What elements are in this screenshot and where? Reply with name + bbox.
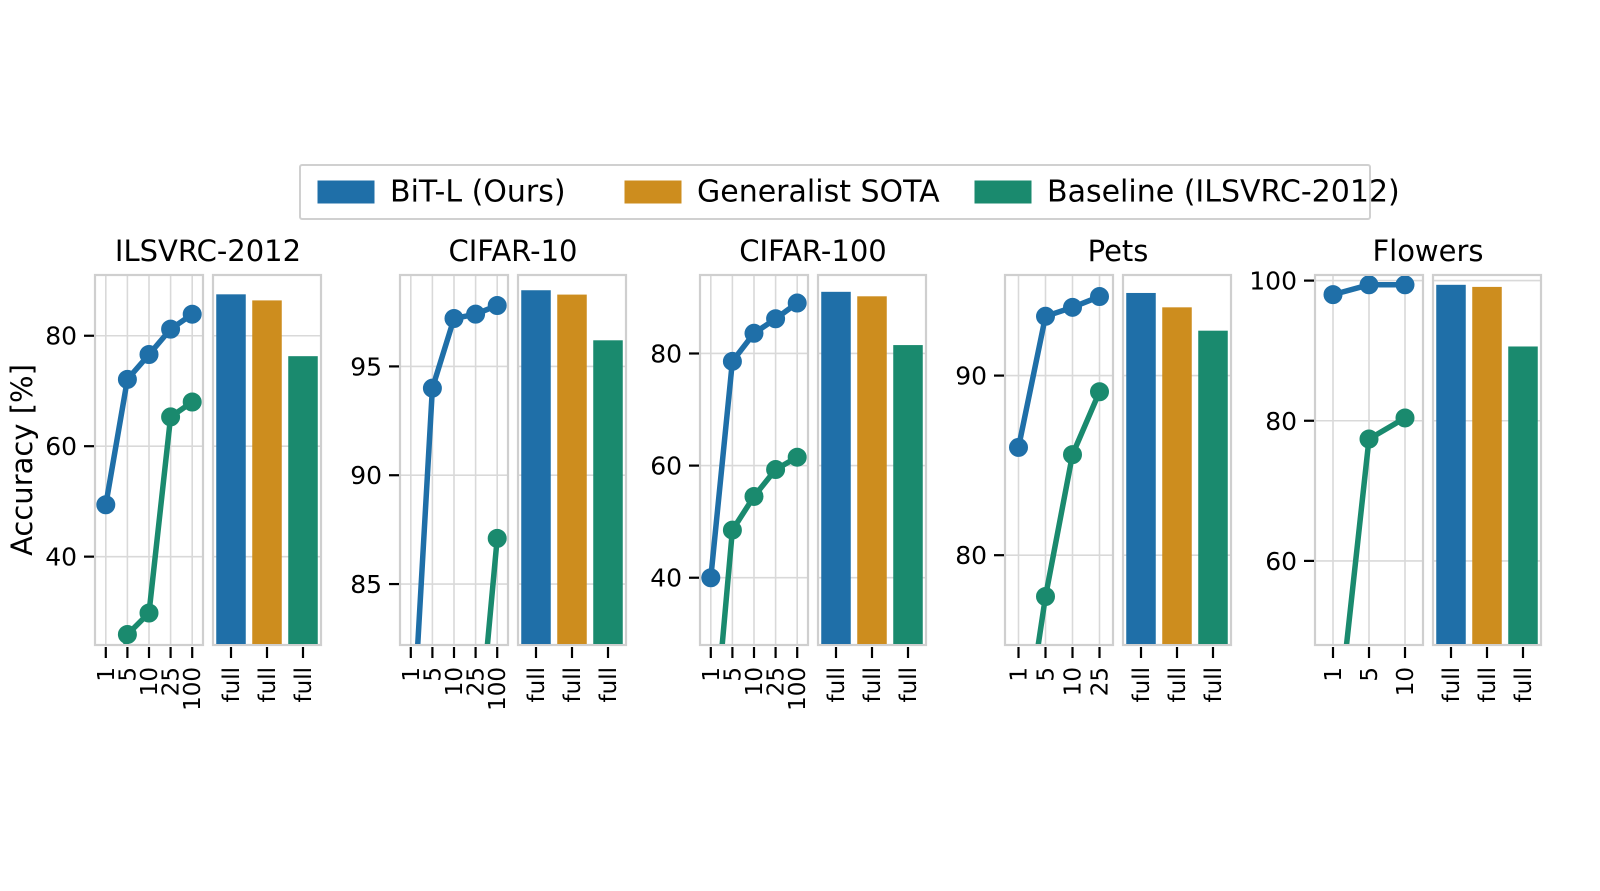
datapoint-bit_l-5 [1360,276,1378,294]
y-tick-label-0: 40 [45,543,77,572]
x-tick-label-full-6: full [860,667,886,702]
datapoint-bit_l-10 [1064,298,1082,316]
x-tick-label-full-5: full [1511,667,1537,702]
bar-bit_l [821,292,851,644]
x-tick-label-shot-0: 1 [1321,667,1347,682]
y-axis-label-group: Accuracy [%] [5,364,39,556]
datapoint-baseline_ilsvrc-100 [488,529,506,547]
datapoint-bit_l-10 [1396,276,1414,294]
datapoint-baseline_ilsvrc-100 [183,393,201,411]
x-tick-label-shot-2: 10 [1393,667,1419,696]
datapoint-bit_l-1 [702,569,720,587]
x-tick-label-full-7: full [896,667,922,702]
bar-baseline_ilsvrc [1508,346,1538,644]
datapoint-bit_l-5 [1037,307,1055,325]
multi-panel-accuracy-chart: BiT-L (Ours)Generalist SOTABaseline (ILS… [0,0,1600,891]
datapoint-baseline_ilsvrc-25 [162,408,180,426]
datapoint-baseline_ilsvrc-10 [140,604,158,622]
x-tick-label-shot-1: 5 [1034,667,1060,682]
y-tick-label-0: 40 [650,564,682,593]
datapoint-bit_l-10 [745,324,763,342]
legend-label-baseline_ilsvrc: Baseline (ILSVRC-2012) [1047,175,1400,210]
datapoint-bit_l-10 [140,346,158,364]
legend-swatch-baseline_ilsvrc [975,181,1031,203]
x-tick-label-shot-4: 100 [785,667,811,711]
x-tick-label-full-5: full [1165,667,1191,702]
y-tick-label-2: 80 [45,322,77,351]
y-axis-label: Accuracy [%] [5,364,39,556]
y-tick-label-2: 95 [350,352,382,381]
y-tick-label-1: 90 [350,461,382,490]
x-tick-label-shot-1: 5 [1357,667,1383,682]
chart-legend: BiT-L (Ours)Generalist SOTABaseline (ILS… [300,165,1400,219]
x-tick-label-full-5: full [219,667,245,702]
x-tick-label-full-7: full [596,667,622,702]
x-tick-label-full-6: full [255,667,281,702]
y-tick-label-1: 90 [955,362,987,391]
x-tick-label-full-3: full [1439,667,1465,702]
y-tick-label-0: 80 [955,541,987,570]
datapoint-bit_l-5 [423,379,441,397]
panel-title-0: ILSVRC-2012 [115,234,301,268]
y-tick-label-1: 80 [1265,407,1297,436]
bar-bit_l [1436,285,1466,644]
legend-label-generalist_sota: Generalist SOTA [697,175,940,210]
panel-title-1: CIFAR-10 [449,234,578,268]
datapoint-baseline_ilsvrc-100 [788,448,806,466]
x-tick-label-full-4: full [1475,667,1501,702]
datapoint-bit_l-1 [97,496,115,514]
datapoint-baseline_ilsvrc-5 [723,521,741,539]
datapoint-bit_l-25 [162,320,180,338]
x-tick-label-full-7: full [291,667,317,702]
bar-generalist_sota [857,296,887,644]
y-tick-label-2: 100 [1249,267,1297,296]
datapoint-bit_l-10 [445,310,463,328]
bar-baseline_ilsvrc [1198,331,1228,644]
panel-title-2: CIFAR-100 [739,234,886,268]
datapoint-baseline_ilsvrc-25 [1091,383,1109,401]
panel-title-4: Flowers [1372,234,1483,268]
x-tick-label-shot-3: 25 [1088,667,1114,696]
datapoint-bit_l-25 [1091,288,1109,306]
y-tick-label-2: 80 [650,339,682,368]
datapoint-bit_l-100 [183,305,201,323]
y-tick-label-0: 85 [350,570,382,599]
x-tick-label-shot-0: 1 [1007,667,1033,682]
datapoint-bit_l-5 [723,352,741,370]
x-tick-label-full-5: full [824,667,850,702]
datapoint-baseline_ilsvrc-5 [1360,430,1378,448]
legend-swatch-generalist_sota [625,181,681,203]
datapoint-baseline_ilsvrc-25 [767,461,785,479]
bar-generalist_sota [1162,307,1192,644]
bar-baseline_ilsvrc [893,345,923,644]
datapoint-bit_l-100 [788,294,806,312]
bar-bit_l [521,290,551,644]
bar-baseline_ilsvrc [593,340,623,644]
bar-generalist_sota [1472,287,1502,644]
bar-generalist_sota [557,295,587,644]
bar-bit_l [216,294,246,644]
datapoint-baseline_ilsvrc-5 [1037,588,1055,606]
figure-canvas: BiT-L (Ours)Generalist SOTABaseline (ILS… [0,0,1600,891]
x-tick-label-full-5: full [524,667,550,702]
legend-swatch-bit_l [318,181,374,203]
datapoint-bit_l-1 [1324,286,1342,304]
datapoint-baseline_ilsvrc-5 [118,626,136,644]
datapoint-bit_l-100 [488,296,506,314]
datapoint-baseline_ilsvrc-10 [745,487,763,505]
y-tick-label-0: 60 [1265,547,1297,576]
datapoint-bit_l-25 [467,305,485,323]
datapoint-bit_l-25 [767,310,785,328]
bar-bit_l [1126,293,1156,644]
x-tick-label-full-4: full [1129,667,1155,702]
legend-label-bit_l: BiT-L (Ours) [390,175,566,210]
x-tick-label-full-6: full [1201,667,1227,702]
datapoint-baseline_ilsvrc-10 [1064,446,1082,464]
bar-baseline_ilsvrc [288,356,318,644]
datapoint-bit_l-5 [118,370,136,388]
y-tick-label-1: 60 [45,432,77,461]
x-tick-label-shot-2: 10 [1061,667,1087,696]
x-tick-label-shot-4: 100 [485,667,511,711]
datapoint-bit_l-1 [1010,438,1028,456]
x-tick-label-shot-4: 100 [180,667,206,711]
y-tick-label-1: 60 [650,452,682,481]
x-tick-label-full-6: full [560,667,586,702]
datapoint-baseline_ilsvrc-10 [1396,409,1414,427]
bar-generalist_sota [252,300,282,644]
panel-title-3: Pets [1088,234,1149,268]
